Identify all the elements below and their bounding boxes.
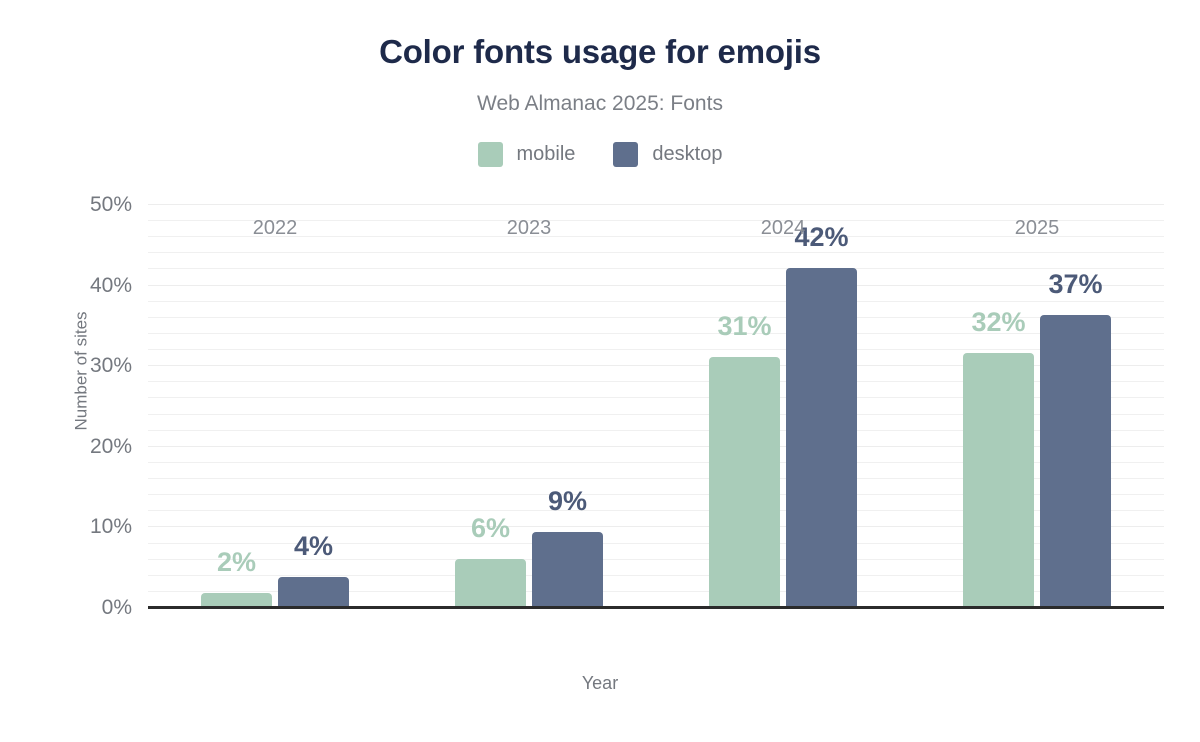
- bar-value-label-mobile-2023: 6%: [471, 513, 510, 544]
- x-axis-baseline: [148, 606, 1164, 609]
- x-axis-tick-2025: 2025: [1015, 217, 1060, 240]
- y-axis-tick-label: 30%: [90, 354, 146, 377]
- chart-figure: Color fonts usage for emojis Web Almanac…: [0, 0, 1200, 742]
- y-axis-tick: 0%: [0, 596, 146, 620]
- bar-value-label-mobile-2025: 32%: [971, 307, 1025, 338]
- bar-value-label-mobile-2022: 2%: [217, 547, 256, 578]
- bar-value-label-desktop-2022: 4%: [294, 531, 333, 562]
- gridline: [148, 285, 1164, 286]
- chart-legend: mobiledesktop: [0, 142, 1200, 167]
- x-axis-tick-2024: 2024: [761, 217, 806, 240]
- bar-value-label-mobile-2024: 31%: [717, 311, 771, 342]
- gridline: [148, 252, 1164, 253]
- chart-title: Color fonts usage for emojis: [0, 33, 1200, 71]
- bar-desktop-2023[interactable]: [532, 532, 603, 608]
- x-axis-tick-2023: 2023: [507, 217, 552, 240]
- chart-subtitle: Web Almanac 2025: Fonts: [0, 92, 1200, 116]
- bar-desktop-2024[interactable]: [786, 268, 857, 608]
- legend-item-desktop[interactable]: desktop: [613, 142, 722, 167]
- gridline: [148, 268, 1164, 269]
- y-axis-tick-label: 0%: [102, 596, 146, 619]
- gridline: [148, 301, 1164, 302]
- x-axis-tick-2022: 2022: [253, 217, 298, 240]
- bar-desktop-2022[interactable]: [278, 577, 349, 608]
- y-axis-tick: 10%: [0, 515, 146, 539]
- y-axis-tick-label: 50%: [90, 193, 146, 216]
- y-axis-tick-label: 40%: [90, 274, 146, 297]
- gridline: [148, 236, 1164, 237]
- legend-item-mobile[interactable]: mobile: [478, 142, 576, 167]
- y-axis-tick: 20%: [0, 435, 146, 459]
- gridline: [148, 349, 1164, 350]
- y-axis-tick: 40%: [0, 274, 146, 298]
- bar-mobile-2025[interactable]: [963, 353, 1034, 608]
- bar-value-label-desktop-2023: 9%: [548, 486, 587, 517]
- gridline: [148, 204, 1164, 205]
- bar-mobile-2024[interactable]: [709, 357, 780, 608]
- gridline: [148, 220, 1164, 221]
- x-axis-title: Year: [0, 673, 1200, 694]
- y-axis-tick-label: 10%: [90, 515, 146, 538]
- legend-label-mobile: mobile: [517, 143, 576, 166]
- y-axis-tick: 50%: [0, 193, 146, 217]
- bar-value-label-desktop-2025: 37%: [1048, 269, 1102, 300]
- legend-swatch-desktop: [613, 142, 638, 167]
- bar-mobile-2023[interactable]: [455, 559, 526, 608]
- bar-desktop-2025[interactable]: [1040, 315, 1111, 608]
- legend-label-desktop: desktop: [652, 143, 722, 166]
- y-axis-tick-label: 20%: [90, 435, 146, 458]
- legend-swatch-mobile: [478, 142, 503, 167]
- plot-area: 0%10%20%30%40%50% 2%4%6%9%31%42%32%37% 2…: [148, 205, 1164, 608]
- y-axis-tick: 30%: [0, 354, 146, 378]
